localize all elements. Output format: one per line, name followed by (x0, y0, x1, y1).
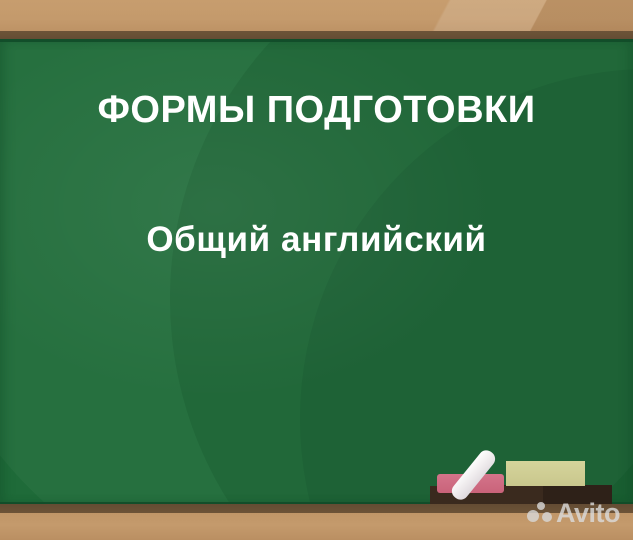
chalkboard-surface: ФОРМЫ ПОДГОТОВКИ Общий английский (0, 39, 633, 505)
avito-watermark: Avito (527, 500, 620, 527)
poster-subline: Общий английский (0, 221, 633, 260)
poster-headline: ФОРМЫ ПОДГОТОВКИ (0, 91, 633, 131)
avito-circles-icon (527, 502, 552, 526)
board-text-group: ФОРМЫ ПОДГОТОВКИ Общий английский (0, 39, 633, 505)
avito-wordmark: Avito (556, 500, 620, 527)
wood-frame-top-sheen (0, 0, 633, 32)
board-sponge (506, 461, 585, 486)
chalkboard-poster: ФОРМЫ ПОДГОТОВКИ Общий английский Avito (0, 0, 633, 540)
wood-frame-top (0, 0, 633, 32)
